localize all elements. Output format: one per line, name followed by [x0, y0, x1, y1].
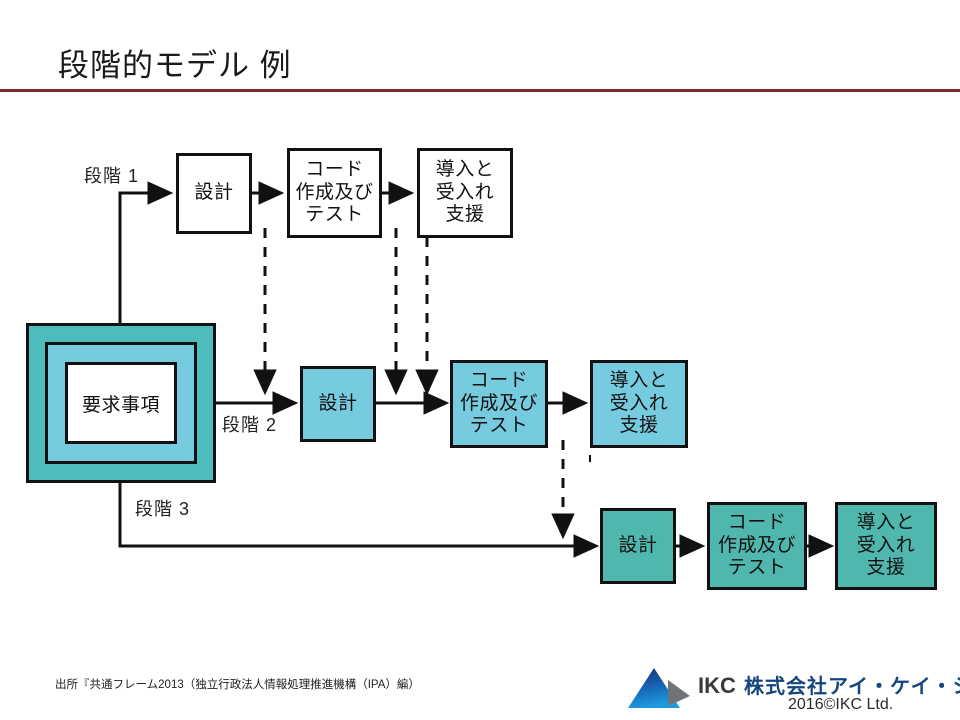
connector-req-to-stage1 [120, 193, 170, 323]
box-label-line-1: 導入と [610, 370, 669, 392]
stage3-step-deploy[interactable]: 導入と 受入れ 支援 [835, 502, 937, 590]
copyright-text: 2016©IKC Ltd. [788, 696, 893, 714]
box-label: 設計 [318, 393, 357, 415]
stage1-step-code[interactable]: コード 作成及び テスト [287, 148, 382, 238]
box-label-line-3: 支援 [857, 557, 916, 579]
box-label-line-1: コード [460, 370, 538, 392]
stage2-step-code[interactable]: コード 作成及び テスト [450, 360, 548, 448]
box-label-line-2: 受入れ [610, 393, 669, 415]
box-label-line-2: 作成及び [718, 535, 796, 557]
requirements-box[interactable]: 要求事項 [26, 323, 216, 483]
box-label: 設計 [194, 182, 233, 204]
stage3-step-design[interactable]: 設計 [600, 508, 676, 584]
stage1-step-design[interactable]: 設計 [176, 153, 252, 234]
box-label-line-3: テスト [718, 557, 796, 579]
stage-label-3: 段階 3 [135, 495, 190, 521]
box-label: 設計 [618, 535, 657, 557]
box-label-line-3: 支援 [436, 204, 495, 226]
box-label-line-2: 受入れ [436, 182, 495, 204]
box-label-line-3: テスト [295, 204, 373, 226]
box-label-line-2: 受入れ [857, 535, 916, 557]
box-label-line-1: 導入と [436, 159, 495, 181]
source-note: 出所『共通フレーム2013（独立行政法人情報処理推進機構（IPA）編） [55, 676, 420, 692]
company-logo: IKC 株式会社アイ・ケイ・シー 2016©IKC Ltd. [628, 664, 948, 718]
logo-company-name: 株式会社アイ・ケイ・シー [744, 670, 960, 699]
connector-req-to-stage3 [120, 483, 596, 546]
stage2-step-design[interactable]: 設計 [300, 366, 376, 442]
logo-abbreviation: IKC [698, 673, 736, 699]
box-label-line-1: 導入と [857, 512, 916, 534]
stage-label-2: 段階 2 [222, 411, 277, 437]
slide-root: 段階的モデル 例 [0, 0, 960, 720]
stage-model-diagram: 要求事項 段階 1 段階 2 段階 3 設計 コード 作成及び テスト 導入と … [0, 0, 960, 720]
stage1-step-deploy[interactable]: 導入と 受入れ 支援 [417, 148, 513, 238]
requirements-box-label: 要求事項 [65, 362, 177, 444]
box-label-line-2: 作成及び [460, 393, 538, 415]
stage-label-1: 段階 1 [84, 162, 139, 188]
box-label-line-1: コード [295, 159, 373, 181]
stage2-step-deploy[interactable]: 導入と 受入れ 支援 [590, 360, 688, 448]
requirements-box-middle-layer: 要求事項 [45, 342, 197, 464]
box-label-line-1: コード [718, 512, 796, 534]
box-label-line-2: 作成及び [295, 182, 373, 204]
stage3-step-code[interactable]: コード 作成及び テスト [707, 502, 807, 590]
triangle-logo-icon [628, 666, 700, 710]
box-label-line-3: テスト [460, 415, 538, 437]
box-label-line-3: 支援 [610, 415, 669, 437]
